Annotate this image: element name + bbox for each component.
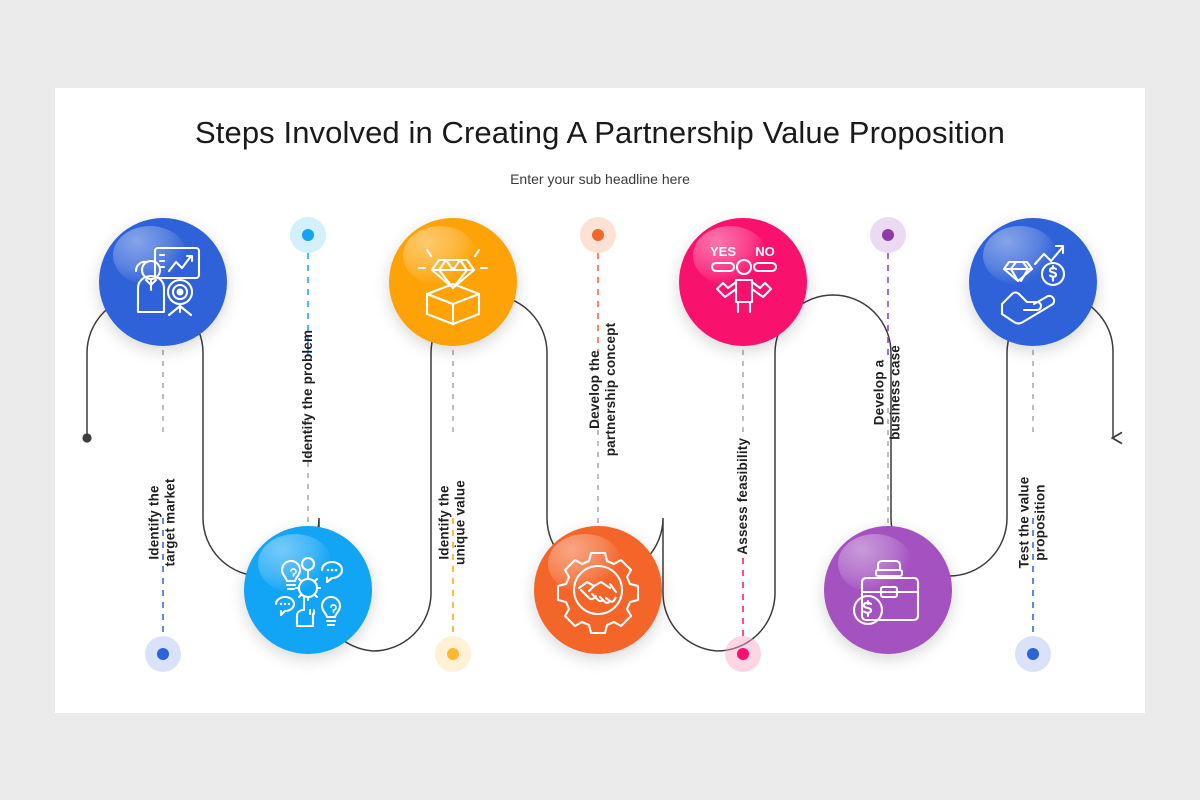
hand-diamond-value-icon	[969, 218, 1097, 346]
step-node-3[interactable]	[389, 218, 517, 346]
step-node-5[interactable]: YES NO	[679, 218, 807, 346]
step-label-5: Assess feasibility	[735, 421, 751, 571]
step-node-4[interactable]	[534, 526, 662, 654]
step-node-1[interactable]	[99, 218, 227, 346]
question-bulbs-gear-icon	[244, 526, 372, 654]
marker-core	[592, 229, 604, 241]
marker-core	[302, 229, 314, 241]
marker-core	[1027, 648, 1039, 660]
marker-core	[157, 648, 169, 660]
step-label-6: Develop a business case	[872, 317, 905, 467]
marker-core	[737, 648, 749, 660]
step-label-1: Identify the target market	[147, 447, 180, 597]
team-target-growth-icon	[99, 218, 227, 346]
diamond-box-icon	[389, 218, 517, 346]
yes-no-decision-icon: YES NO	[679, 218, 807, 346]
svg-text:NO: NO	[755, 244, 775, 259]
briefcase-money-icon	[824, 526, 952, 654]
slide-canvas: Steps Involved in Creating A Partnership…	[55, 88, 1145, 713]
step-node-7[interactable]	[969, 218, 1097, 346]
step-node-6[interactable]	[824, 526, 952, 654]
step-label-2: Identify the problem	[300, 321, 316, 471]
marker-core	[447, 648, 459, 660]
step-node-2[interactable]	[244, 526, 372, 654]
step-label-7: Test the value proposition	[1017, 447, 1050, 597]
infographic-canvas: Identify the target market	[55, 88, 1145, 713]
marker-core	[882, 229, 894, 241]
gear-handshake-icon	[534, 526, 662, 654]
step-label-4: Develop the partnership concept	[587, 307, 620, 472]
step-label-3: Identify the unique value	[437, 447, 470, 597]
svg-text:YES: YES	[710, 244, 736, 259]
